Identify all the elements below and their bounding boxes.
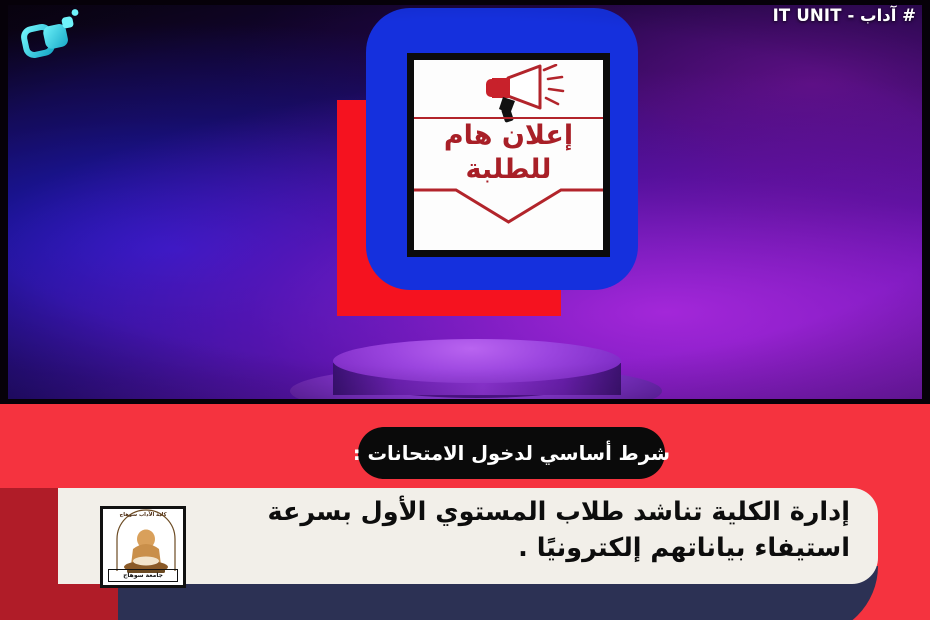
abstract-chain-logo-icon[interactable] — [18, 8, 86, 68]
card-heading-line2: للطلبة — [414, 154, 603, 186]
hero-scene: إعلان هام للطلبة — [0, 0, 930, 404]
announcement-card: إعلان هام للطلبة — [407, 53, 610, 257]
message-line1: إدارة الكلية تناشد طلاب المستوي الأول بس… — [190, 494, 850, 530]
message-line2: استيفاء بياناتهم إلكترونيًا . — [190, 530, 850, 566]
announcement-graphic: إعلان هام للطلبة — [0, 0, 930, 620]
card-heading: إعلان هام للطلبة — [414, 120, 603, 186]
condition-pill-text: شرط أساسي لدخول الامتحانات : — [353, 442, 670, 465]
page-handle: # آداب - IT UNIT — [773, 6, 916, 25]
university-seal-icon: كلية الآداب سوهاج جامعة سوهاج — [100, 506, 186, 588]
message-text: إدارة الكلية تناشد طلاب المستوي الأول بس… — [190, 494, 850, 566]
condition-pill: شرط أساسي لدخول الامتحانات : — [358, 427, 665, 479]
seal-bottom-text: جامعة سوهاج — [108, 569, 178, 582]
announcement-card-inner: إعلان هام للطلبة — [414, 60, 603, 250]
card-chevron-bottom — [414, 188, 603, 228]
podium-plate — [333, 339, 621, 383]
scene-gradient-background: إعلان هام للطلبة — [8, 5, 922, 399]
card-heading-line1: إعلان هام — [414, 120, 603, 152]
